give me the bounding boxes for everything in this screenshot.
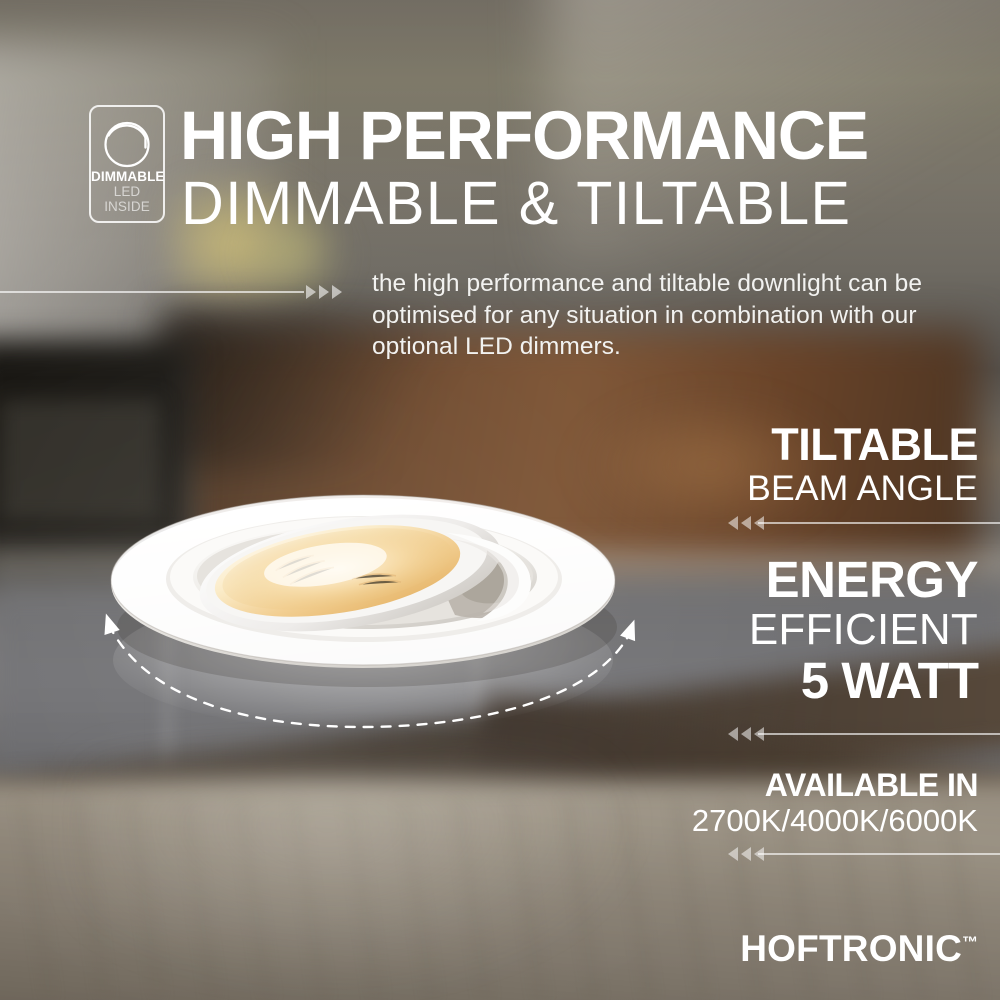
badge-label-primary: DIMMABLE [91, 170, 163, 184]
divider-top-left [0, 285, 344, 299]
feature-energy-efficient: ENERGY EFFICIENT 5 WATT [749, 553, 978, 708]
chevron-right-icon-1 [306, 285, 316, 299]
dimmer-dial-icon [100, 116, 154, 170]
downlight-illustration [95, 455, 655, 725]
divider-right-1 [718, 516, 1000, 530]
chevron-left-icon-3 [754, 847, 764, 861]
trademark-symbol: ™ [962, 935, 978, 952]
chevron-right-icon-3 [332, 285, 342, 299]
intro-paragraph: the high performance and tiltable downli… [372, 268, 992, 363]
feature-available-subtitle: 2700K/4000K/6000K [692, 803, 978, 839]
tilt-arrow-left [98, 611, 119, 635]
tilt-arrow-right [620, 617, 642, 641]
feature-tiltable-subtitle: BEAM ANGLE [747, 468, 978, 509]
product-marketing-banner: DIMMABLE LED INSIDE HIGH PERFORMANCE DIM… [0, 0, 1000, 1000]
chevron-left-icon-1 [728, 516, 738, 530]
headline-secondary: DIMMABLE & TILTABLE [181, 171, 851, 235]
feature-tiltable: TILTABLE BEAM ANGLE [747, 421, 978, 509]
chevron-left-icon-3 [754, 516, 764, 530]
chevron-left-icon-2 [741, 516, 751, 530]
chevron-left-icon-3 [754, 727, 764, 741]
divider-line [758, 522, 1000, 524]
feature-tiltable-title: TILTABLE [747, 421, 978, 468]
headline-primary: HIGH PERFORMANCE [180, 101, 868, 171]
divider-line [0, 291, 304, 293]
chevron-left-icon-1 [728, 727, 738, 741]
divider-line [758, 853, 1000, 855]
dimmable-badge: DIMMABLE LED INSIDE [89, 105, 165, 223]
divider-right-3 [718, 847, 1000, 861]
badge-label-secondary: LED INSIDE [91, 184, 163, 214]
feature-color-temperatures: AVAILABLE IN 2700K/4000K/6000K [692, 768, 978, 839]
brand-name: HOFTRONIC [740, 928, 962, 969]
divider-line [758, 733, 1000, 735]
feature-energy-wattage: 5 WATT [749, 654, 978, 708]
chevron-left-icon-2 [741, 847, 751, 861]
chevron-left-icon-1 [728, 847, 738, 861]
product-downlight-image [95, 455, 655, 725]
feature-energy-title: ENERGY [749, 553, 978, 606]
feature-energy-subtitle: EFFICIENT [749, 606, 978, 654]
chevron-right-icon-2 [319, 285, 329, 299]
badge-labels: DIMMABLE LED INSIDE [91, 170, 163, 214]
brand-logo: HOFTRONIC™ [740, 928, 978, 970]
chevron-left-icon-2 [741, 727, 751, 741]
divider-right-2 [718, 727, 1000, 741]
feature-available-title: AVAILABLE IN [692, 768, 978, 803]
